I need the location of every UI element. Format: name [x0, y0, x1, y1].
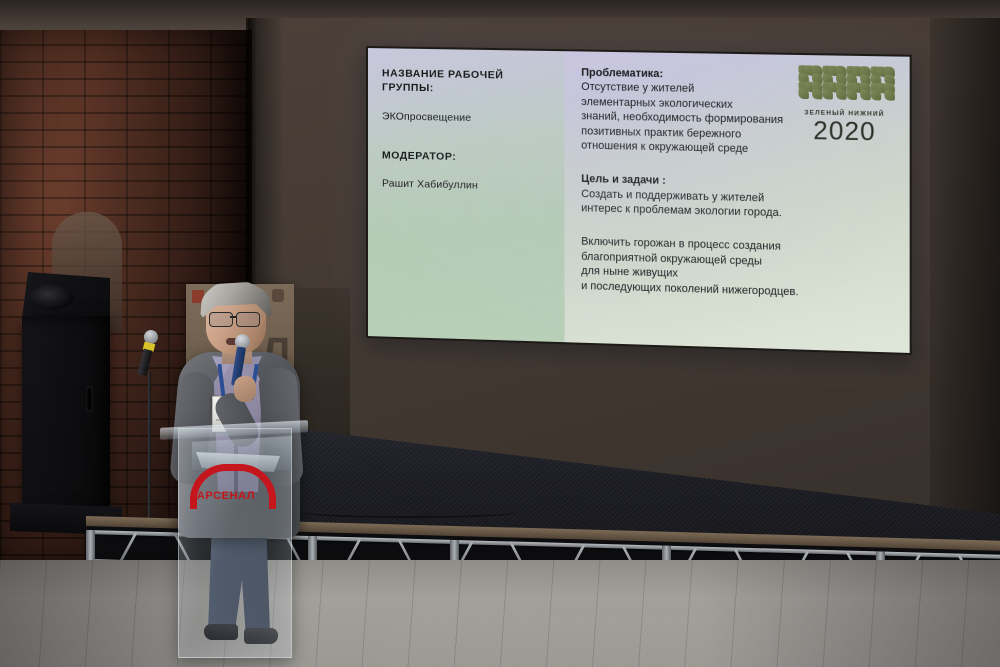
green-nizhny-logo: ЗЕЛЕНЫЙ НИЖНИЙ 2020 [793, 65, 896, 151]
projection-screen: НАЗВАНИЕ РАБОЧЕЙ ГРУППЫ: ЭКОпросвещение … [366, 46, 912, 355]
arsenal-wordmark: АРСЕНАЛ [186, 490, 266, 502]
logo-leaf-tile-icon [798, 89, 808, 99]
moderator-name: Рашит Хабибуллин [382, 178, 553, 196]
slide-left-panel: НАЗВАНИЕ РАБОЧЕЙ ГРУППЫ: ЭКОпросвещение … [368, 48, 565, 342]
slide-right-panel: Проблематика: Отсутствие у жителей элеме… [565, 51, 910, 353]
logo-year: 2020 [793, 117, 896, 147]
floor-mat [372, 610, 772, 667]
eyeglasses-lens-right-icon [236, 312, 260, 327]
logo-leaf-tile-icon [822, 90, 832, 100]
logo-tile-grid-icon [798, 65, 890, 108]
banner-emblem-icon [272, 289, 284, 302]
logo-leaf-tile-icon [871, 90, 882, 100]
logo-leaf-tile-icon [884, 91, 895, 101]
presenter-hand [234, 376, 256, 402]
logo-leaf-tile-icon [847, 90, 857, 100]
logo-leaf-tile-icon [836, 90, 846, 100]
eyeglasses-lens-left-icon [209, 312, 233, 327]
pa-speaker-driver-icon [30, 284, 74, 310]
eyeglasses-bridge-icon [230, 316, 237, 318]
logo-leaf-tile-icon [812, 89, 822, 99]
pa-speaker-main-cabinet [22, 316, 110, 512]
mic-body [138, 349, 153, 376]
logo-leaf-tile-icon [860, 90, 871, 100]
slide-surface: НАЗВАНИЕ РАБОЧЕЙ ГРУППЫ: ЭКОпросвещение … [368, 48, 910, 353]
arsenal-arc-icon [190, 464, 276, 509]
conference-photo-scene: Л НАЗВАНИЕ РАБОЧЕЙ ГРУППЫ: ЭКОпросвещени… [0, 0, 1000, 667]
wall-right-shadow [930, 18, 1000, 578]
stage-cable [300, 506, 520, 518]
arsenal-venue-logo: АРСЕНАЛ [186, 462, 266, 514]
pa-speaker-handle [86, 386, 93, 412]
